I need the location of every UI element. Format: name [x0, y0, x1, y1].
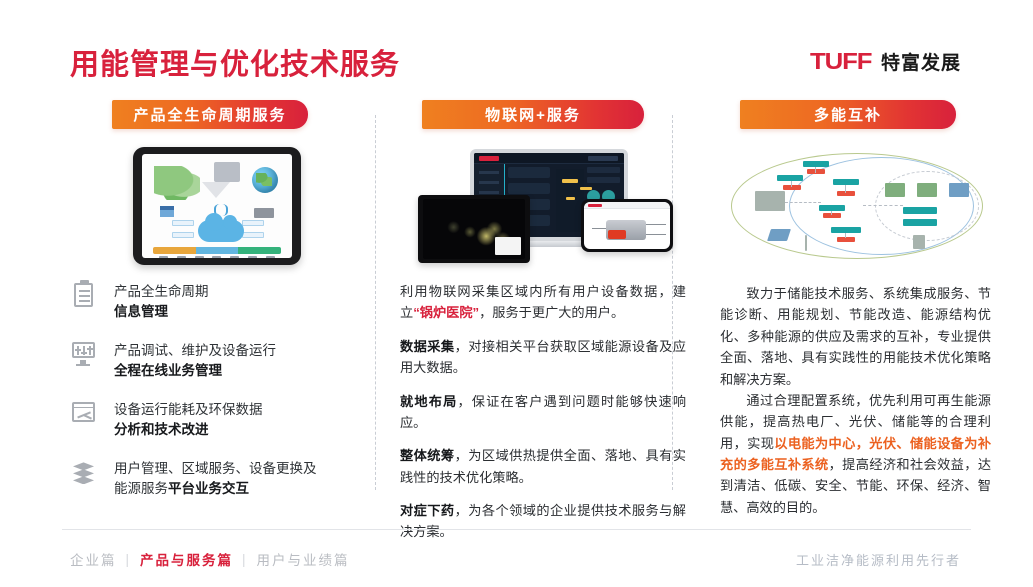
feature-line2: 信息管理	[114, 302, 209, 322]
feature-line2-bold: 平台业务交互	[168, 481, 249, 496]
node-teal-5	[831, 227, 861, 233]
flame-graphic	[608, 230, 626, 239]
multi-device-dashboard-mockup	[400, 147, 690, 265]
feature-item-4: 用户管理、区域服务、设备更换及 能源服务平台业务交互	[70, 458, 372, 498]
node-red-4	[823, 213, 841, 218]
china-map-graphic	[154, 166, 200, 200]
text-run: 致力于储能技术服务、系统集成服务、节能诊断、用能规划、节能改造、能源结构优化、多…	[720, 286, 991, 387]
node-teal-2	[777, 175, 803, 181]
footer-nav-separator: |	[242, 552, 248, 567]
tablet-screen	[142, 154, 292, 258]
column-banner-2: 物联网+服务	[422, 100, 644, 129]
monitor-settings-icon	[70, 340, 98, 370]
node-teal-1	[803, 161, 829, 167]
slide-root: 用能管理与优化技术服务 TUFF 特富发展 产品全生命周期服务	[0, 0, 1033, 587]
text-run-bold: 整体统筹	[400, 448, 455, 463]
feature-item-2: 产品调试、维护及设备运行 全程在线业务管理	[70, 340, 372, 380]
feature-line1: 产品全生命周期	[114, 282, 209, 302]
text-run: ，服务于更广大的用户。	[479, 305, 624, 320]
footer-slogan: 工业洁净能源利用先行者	[796, 550, 961, 569]
clipboard-icon	[70, 281, 98, 311]
brand-name-text: 特富发展	[881, 48, 961, 75]
tablet-night-map-device	[418, 195, 530, 263]
footer-nav-separator: |	[126, 552, 132, 567]
feature-line1: 用户管理、区域服务、设备更换及	[114, 459, 317, 479]
paragraph: 就地布局，保证在客户遇到问题时能够快速响应。	[400, 391, 686, 434]
storage-icon	[913, 235, 925, 249]
footer-nav-item-products[interactable]: 产品与服务篇	[140, 549, 233, 569]
cloud-service-icon	[198, 220, 244, 242]
footer-nav: 企业篇 | 产品与服务篇 | 用户与业绩篇	[70, 549, 350, 569]
layers-icon	[70, 458, 98, 488]
power-plant-icon	[755, 191, 785, 211]
factory-icon	[160, 206, 174, 217]
node-red-1	[807, 169, 825, 174]
solar-panel-icon	[767, 229, 791, 241]
legend-bar-blue	[196, 247, 239, 254]
node-red-5	[837, 237, 855, 242]
tag-left-2	[172, 232, 194, 238]
laptop-map-graphic	[556, 169, 584, 232]
paragraph: 利用物联网采集区域内所有用户设备数据，建立“锅炉医院”，服务于更广大的用户。	[400, 281, 686, 324]
beam-graphic	[202, 182, 230, 198]
text-run-bold: 数据采集	[400, 339, 455, 354]
feature-text-1: 产品全生命周期 信息管理	[114, 281, 209, 321]
node-teal-3	[833, 179, 859, 185]
feature-line2: 能源服务平台业务交互	[114, 479, 317, 499]
brand-logo: TUFF 特富发展	[810, 48, 961, 75]
node-red-2	[783, 185, 801, 190]
footer-nav-item-company[interactable]: 企业篇	[70, 549, 117, 569]
footer-nav-item-clients[interactable]: 用户与业绩篇	[257, 549, 350, 569]
ring-inner	[875, 171, 979, 241]
paragraph-block-iot: 利用物联网采集区域内所有用户设备数据，建立“锅炉医院”，服务于更广大的用户。 数…	[400, 281, 690, 543]
chart-panel-icon	[70, 399, 98, 429]
tablet-cloud-service-diagram	[62, 147, 372, 265]
datacenter-graphic	[214, 162, 240, 182]
multi-energy-network-diagram	[720, 147, 995, 267]
column-divider-1	[375, 115, 376, 490]
feature-list: 产品全生命周期 信息管理 产品调试、维护及设备运行	[62, 281, 372, 499]
paragraph: 通过合理配置系统，优先利用可再生能源供能，提高热电厂、光伏、储能等的合理利用，实…	[720, 390, 991, 518]
footer-divider	[62, 529, 971, 530]
text-run-bold: 就地布局	[400, 394, 457, 409]
globe-graphic	[252, 167, 278, 193]
phone-screen	[584, 202, 670, 249]
tablet-device-frame	[133, 147, 301, 265]
map-legend-card	[495, 237, 521, 255]
feature-text-4: 用户管理、区域服务、设备更换及 能源服务平台业务交互	[114, 458, 317, 498]
feature-line2-prefix: 能源服务	[114, 481, 168, 496]
phone-device	[581, 199, 673, 252]
feature-text-2: 产品调试、维护及设备运行 全程在线业务管理	[114, 340, 276, 380]
wind-turbine-icon	[805, 235, 807, 251]
node-teal-4	[819, 205, 845, 211]
brand-mark-text: TUFF	[810, 48, 871, 75]
legend-bars	[153, 247, 281, 254]
feature-line2: 分析和技术改进	[114, 420, 263, 440]
building-icon-1	[885, 183, 905, 197]
building-icon-3	[949, 183, 969, 197]
text-run-red: “锅炉医院”	[413, 305, 479, 320]
column-product-lifecycle: 产品全生命周期服务	[62, 100, 372, 510]
tag-right-1	[242, 220, 264, 226]
building-icon-2	[917, 183, 937, 197]
node-red-3	[837, 191, 855, 196]
paragraph: 致力于储能技术服务、系统集成服务、节能诊断、用能规划、节能改造、能源结构优化、多…	[720, 283, 991, 390]
feature-text-3: 设备运行能耗及环保数据 分析和技术改进	[114, 399, 263, 439]
tag-right-2	[242, 232, 264, 238]
column-multi-energy: 多能互补	[720, 100, 995, 510]
page-title: 用能管理与优化技术服务	[70, 41, 400, 83]
node-teal-7	[903, 219, 937, 226]
content-columns: 产品全生命周期服务	[0, 100, 1033, 510]
feature-item-3: 设备运行能耗及环保数据 分析和技术改进	[70, 399, 372, 439]
feature-line1: 设备运行能耗及环保数据	[114, 400, 263, 420]
paragraph: 整体统筹，为区域供热提供全面、落地、具有实践性的技术优化策略。	[400, 445, 686, 488]
column-banner-1: 产品全生命周期服务	[112, 100, 308, 129]
feature-item-1: 产品全生命周期 信息管理	[70, 281, 372, 321]
legend-bar-orange	[153, 247, 196, 254]
feature-line1: 产品调试、维护及设备运行	[114, 341, 276, 361]
text-run-bold: 对症下药	[400, 503, 455, 518]
tag-left-1	[172, 220, 194, 226]
column-iot-service: 物联网+服务	[400, 100, 690, 510]
node-teal-6	[903, 207, 937, 214]
slide-footer: 企业篇 | 产品与服务篇 | 用户与业绩篇 工业洁净能源利用先行者	[0, 529, 1033, 587]
legend-bar-green	[238, 247, 281, 254]
slide-header: 用能管理与优化技术服务 TUFF 特富发展	[0, 0, 1033, 96]
column-banner-3: 多能互补	[740, 100, 956, 129]
paragraph-block-energy: 致力于储能技术服务、系统集成服务、节能诊断、用能规划、节能改造、能源结构优化、多…	[720, 283, 995, 518]
paragraph: 数据采集，对接相关平台获取区域能源设备及应用大数据。	[400, 336, 686, 379]
devices-icon	[254, 208, 274, 218]
feature-line2: 全程在线业务管理	[114, 361, 276, 381]
